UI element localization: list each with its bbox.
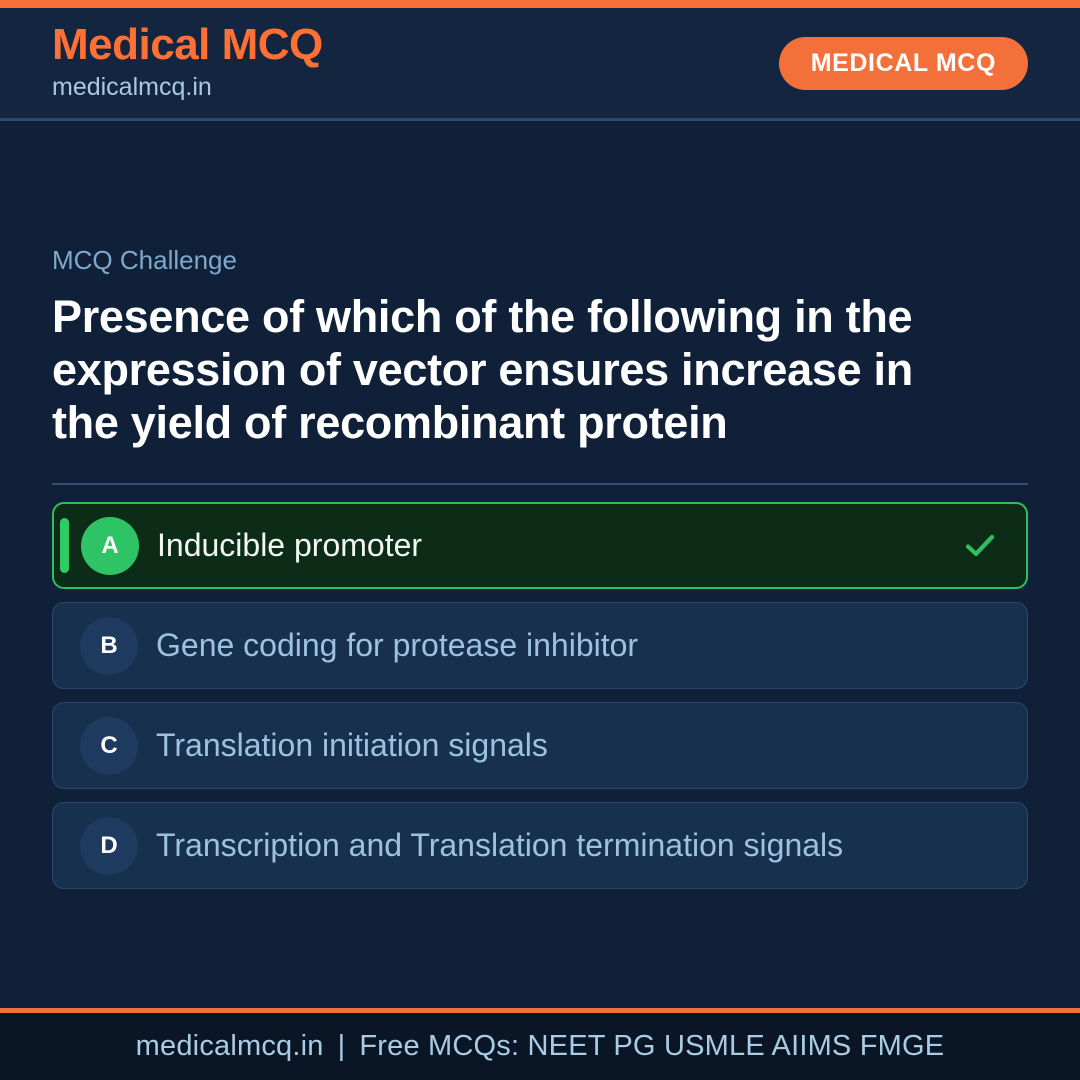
question-text: Presence of which of the following in th… bbox=[52, 290, 952, 449]
footer-text: medicalmcq.in|Free MCQs: NEET PG USMLE A… bbox=[136, 1030, 945, 1063]
header-badge: MEDICAL MCQ bbox=[779, 37, 1028, 90]
brand-title: Medical MCQ bbox=[52, 22, 323, 69]
brand-subtitle: medicalmcq.in bbox=[52, 71, 323, 104]
option-b[interactable]: B Gene coding for protease inhibitor bbox=[52, 602, 1028, 689]
footer-exams: Free MCQs: NEET PG USMLE AIIMS FMGE bbox=[359, 1030, 944, 1062]
header: Medical MCQ medicalmcq.in MEDICAL MCQ bbox=[0, 8, 1080, 121]
content-spacer bbox=[52, 889, 1028, 1008]
mcq-card: Medical MCQ medicalmcq.in MEDICAL MCQ MC… bbox=[0, 0, 1080, 1080]
option-c-letter: C bbox=[80, 717, 138, 775]
brand-block: Medical MCQ medicalmcq.in bbox=[52, 22, 323, 103]
option-a-letter: A bbox=[81, 517, 139, 575]
option-d-letter: D bbox=[80, 817, 138, 875]
option-d[interactable]: D Transcription and Translation terminat… bbox=[52, 802, 1028, 889]
footer-separator: | bbox=[324, 1030, 360, 1062]
options-list: A Inducible promoter B Gene coding for p… bbox=[52, 502, 1028, 889]
option-d-text: Transcription and Translation terminatio… bbox=[156, 826, 1001, 865]
option-a-text: Inducible promoter bbox=[157, 526, 960, 565]
section-divider bbox=[52, 483, 1028, 485]
main-content: MCQ Challenge Presence of which of the f… bbox=[0, 121, 1080, 1008]
option-c-text: Translation initiation signals bbox=[156, 726, 1001, 765]
correct-accent-bar bbox=[60, 518, 69, 573]
option-c[interactable]: C Translation initiation signals bbox=[52, 702, 1028, 789]
footer-site: medicalmcq.in bbox=[136, 1030, 324, 1062]
footer: medicalmcq.in|Free MCQs: NEET PG USMLE A… bbox=[0, 1008, 1080, 1080]
check-icon bbox=[960, 526, 1000, 566]
option-a[interactable]: A Inducible promoter bbox=[52, 502, 1028, 589]
top-accent-bar bbox=[0, 0, 1080, 8]
option-b-letter: B bbox=[80, 617, 138, 675]
kicker-label: MCQ Challenge bbox=[52, 245, 1028, 276]
option-b-text: Gene coding for protease inhibitor bbox=[156, 626, 1001, 665]
